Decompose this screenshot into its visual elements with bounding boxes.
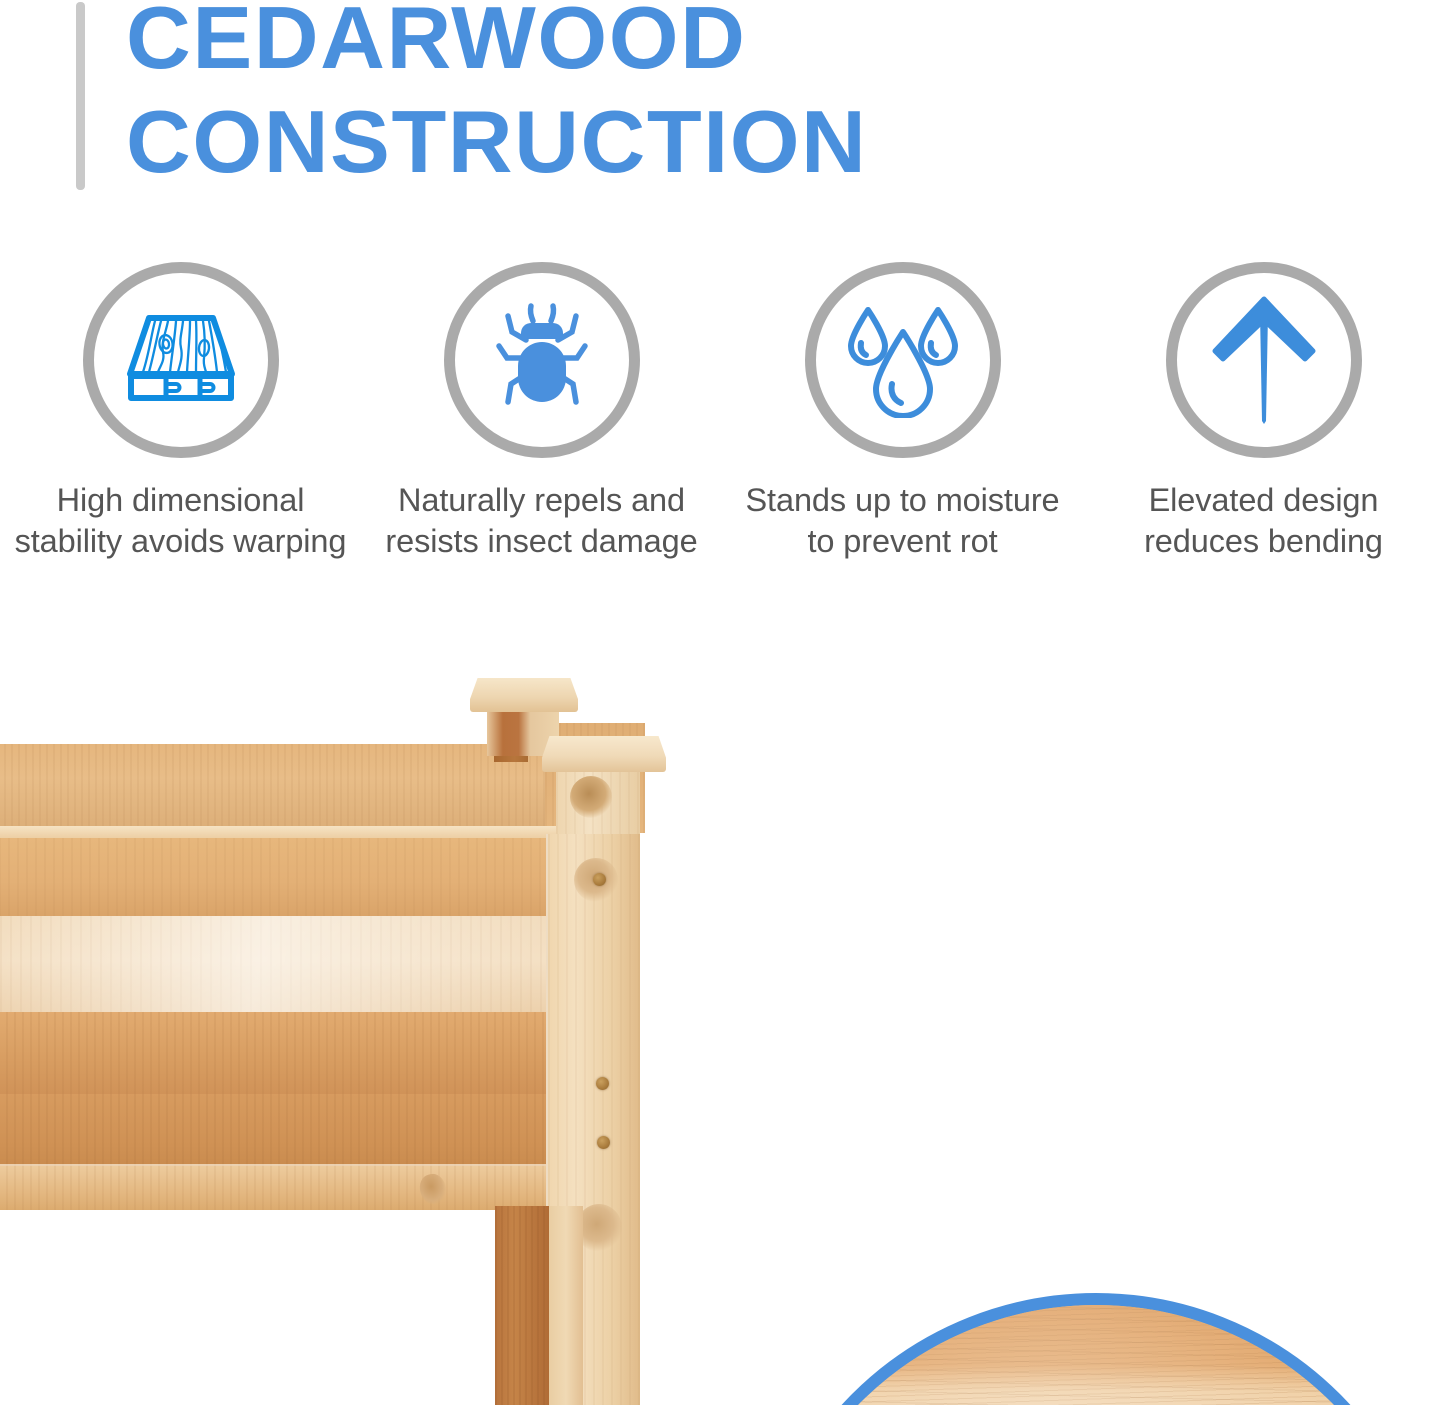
up-arrow-icon [1209,295,1319,425]
feature-badge-1 [444,262,640,458]
planter-front-plank-mid [0,1012,590,1098]
screw-head [593,873,606,886]
post-cap-right [542,736,666,772]
wood-knot [570,776,612,818]
feature-item-elevated: Elevated design reduces bending [1083,262,1444,562]
planter-bottom-rail [0,1164,580,1210]
planter-leg-outer [549,1206,583,1405]
feature-item-stability: High dimensional stability avoids warpin… [0,262,361,562]
feature-label-1: Naturally repels and resists insect dama… [372,480,712,562]
screw-head [597,1136,610,1149]
planter-front-plank-upper [0,838,580,918]
feature-label-2: Stands up to moisture to prevent rot [733,480,1073,562]
wood-plank-icon [122,312,240,408]
feature-item-moisture: Stands up to moisture to prevent rot [722,262,1083,562]
headline-accent-rule [76,2,85,190]
feature-item-insect: Naturally repels and resists insect dama… [361,262,722,562]
feature-badge-3 [1166,262,1362,458]
feature-badge-2 [805,262,1001,458]
planter-front-plank-pale [0,916,590,1016]
page-title: CEDARWOOD CONSTRUCTION [126,0,1226,194]
water-droplets-icon [841,302,965,418]
feature-label-3: Elevated design reduces bending [1114,480,1414,562]
post-cap-left [470,678,578,712]
feature-badge-0 [83,262,279,458]
headline-line-1: CEDARWOOD [126,0,1248,90]
headline-line-2: CONSTRUCTION [126,90,1248,194]
screw-head [596,1077,609,1090]
planter-leg-inner [495,1206,549,1405]
feature-list: High dimensional stability avoids warpin… [0,262,1445,562]
feature-label-0: High dimensional stability avoids warpin… [11,480,351,562]
headline-block: CEDARWOOD CONSTRUCTION [0,0,1445,230]
planter-front-plank-lower [0,1094,590,1168]
wood-highlight-sheen [763,1305,1429,1405]
magnified-wood-detail [751,1293,1441,1405]
bug-icon [486,302,598,418]
product-photo [0,648,1445,1405]
